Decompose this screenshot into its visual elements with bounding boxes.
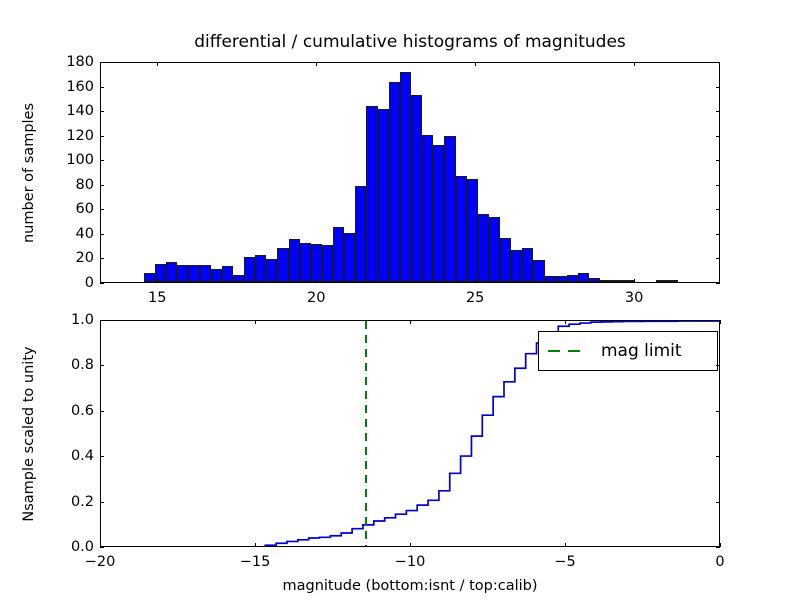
- cumulative-x-tick: [720, 543, 721, 547]
- histogram-x-tick: [316, 62, 317, 66]
- histogram-bar: [545, 276, 556, 282]
- histogram-y-tick: [716, 111, 720, 112]
- histogram-bar: [344, 233, 355, 282]
- histogram-x-tick: [316, 279, 317, 283]
- cumulative-y-ticklabel: 0.2: [50, 494, 94, 509]
- histogram-y-ticklabel: 60: [50, 202, 94, 217]
- legend-label-mag-limit: mag limit: [601, 343, 682, 360]
- histogram-y-tick: [716, 160, 720, 161]
- histogram-bar: [355, 186, 366, 282]
- cumulative-y-tick: [716, 502, 720, 503]
- histogram-bar: [177, 265, 188, 282]
- cumulative-y-tick: [716, 411, 720, 412]
- bottom-y-axis-label: Nsample scaled to unity: [22, 346, 37, 521]
- histogram-y-tick: [100, 258, 104, 259]
- histogram-bar: [244, 257, 255, 282]
- histogram-bar: [589, 278, 600, 282]
- histogram-x-tick: [157, 62, 158, 66]
- histogram-y-tick: [100, 160, 104, 161]
- histogram-bar: [333, 227, 344, 282]
- chart-title: differential / cumulative histograms of …: [194, 34, 626, 51]
- histogram-x-ticklabel: 25: [466, 291, 484, 306]
- histogram-bar: [511, 250, 522, 282]
- histogram-x-tick: [634, 279, 635, 283]
- histogram-bar: [489, 217, 500, 282]
- histogram-bar: [311, 244, 322, 282]
- histogram-x-tick: [634, 62, 635, 66]
- histogram-bar: [233, 275, 244, 282]
- cumulative-x-tick: [410, 320, 411, 324]
- cumulative-x-tick: [255, 320, 256, 324]
- histogram-bar: [300, 243, 311, 282]
- histogram-x-ticklabel: 30: [625, 291, 643, 306]
- cumulative-x-ticklabel: −15: [240, 555, 271, 570]
- cumulative-y-tick: [100, 456, 104, 457]
- histogram-bar: [667, 280, 678, 282]
- cumulative-y-tick: [716, 456, 720, 457]
- histogram-y-ticklabel: 0: [50, 276, 94, 291]
- cumulative-y-ticklabel: 0.4: [50, 449, 94, 464]
- histogram-bar: [166, 262, 177, 282]
- histogram-bar: [500, 238, 511, 282]
- histogram-y-ticklabel: 160: [50, 79, 94, 94]
- histogram-bar: [266, 259, 277, 282]
- histogram-bar: [277, 248, 288, 282]
- axes-top-plot-area: [101, 63, 719, 282]
- cumulative-y-ticklabel: 0.8: [50, 358, 94, 373]
- histogram-y-tick: [716, 209, 720, 210]
- cumulative-x-tick: [410, 543, 411, 547]
- cumulative-x-ticklabel: 0: [715, 555, 724, 570]
- cumulative-x-ticklabel: −20: [85, 555, 116, 570]
- histogram-bar: [600, 280, 611, 282]
- histogram-bar: [456, 176, 467, 282]
- histogram-bar: [144, 273, 155, 282]
- cumulative-y-tick: [100, 365, 104, 366]
- histogram-bar: [433, 145, 444, 283]
- histogram-y-tick: [716, 234, 720, 235]
- histogram-bar: [578, 273, 589, 282]
- cumulative-x-ticklabel: −5: [554, 555, 575, 570]
- histogram-y-tick: [100, 209, 104, 210]
- histogram-bar: [467, 179, 478, 282]
- histogram-y-ticklabel: 80: [50, 178, 94, 193]
- histogram-bar: [567, 275, 578, 282]
- cumulative-x-tick: [255, 543, 256, 547]
- histogram-x-tick: [157, 279, 158, 283]
- histogram-bar: [255, 255, 266, 282]
- histogram-bar: [389, 82, 400, 282]
- histogram-y-tick: [716, 87, 720, 88]
- histogram-y-ticklabel: 140: [50, 104, 94, 119]
- histogram-bar: [378, 109, 389, 282]
- histogram-bar: [422, 135, 433, 282]
- histogram-bar: [200, 265, 211, 282]
- histogram-y-ticklabel: 20: [50, 251, 94, 266]
- histogram-x-ticklabel: 15: [148, 291, 166, 306]
- histogram-bar: [400, 72, 411, 282]
- cumulative-y-ticklabel: 0.0: [50, 540, 94, 555]
- cumulative-x-tick: [565, 320, 566, 324]
- histogram-y-tick: [100, 283, 104, 284]
- cumulative-y-tick: [100, 411, 104, 412]
- cumulative-y-tick: [100, 502, 104, 503]
- histogram-y-ticklabel: 100: [50, 153, 94, 168]
- cumulative-x-tick: [565, 543, 566, 547]
- histogram-y-tick: [100, 111, 104, 112]
- histogram-bar: [411, 95, 422, 282]
- legend[interactable]: mag limit: [538, 331, 718, 371]
- histogram-bar: [556, 276, 567, 282]
- histogram-bar: [522, 248, 533, 282]
- histogram-bar: [222, 266, 233, 282]
- histogram-bar: [322, 245, 333, 282]
- histogram-bar: [656, 280, 667, 282]
- histogram-bar: [289, 239, 300, 282]
- histogram-y-ticklabel: 40: [50, 227, 94, 242]
- histogram-bar: [444, 136, 455, 282]
- histogram-y-tick: [716, 283, 720, 284]
- histogram-y-ticklabel: 180: [50, 55, 94, 70]
- histogram-x-tick: [475, 279, 476, 283]
- top-y-axis-label: number of samples: [22, 102, 37, 242]
- histogram-axes: [100, 62, 720, 283]
- histogram-bar: [478, 214, 489, 282]
- histogram-y-ticklabel: 120: [50, 128, 94, 143]
- histogram-x-tick: [475, 62, 476, 66]
- histogram-y-tick: [100, 62, 104, 63]
- histogram-bar: [611, 280, 622, 282]
- cumulative-y-ticklabel: 1.0: [50, 313, 94, 328]
- histogram-bar: [533, 260, 544, 282]
- cumulative-y-tick: [716, 547, 720, 548]
- histogram-bar: [622, 280, 633, 282]
- histogram-y-tick: [100, 185, 104, 186]
- histogram-y-tick: [716, 136, 720, 137]
- cumulative-y-tick: [716, 365, 720, 366]
- bottom-x-axis-label: magnitude (bottom:isnt / top:calib): [282, 579, 537, 594]
- histogram-y-tick: [100, 234, 104, 235]
- histogram-y-tick: [716, 185, 720, 186]
- cumulative-y-tick: [716, 320, 720, 321]
- histogram-y-tick: [100, 87, 104, 88]
- histogram-bar: [366, 106, 377, 282]
- histogram-y-tick: [100, 136, 104, 137]
- cumulative-x-ticklabel: −10: [395, 555, 426, 570]
- histogram-y-tick: [716, 62, 720, 63]
- histogram-bar: [211, 269, 222, 283]
- histogram-bar: [188, 265, 199, 282]
- mag-limit-vline: [365, 321, 367, 546]
- cumulative-y-tick: [100, 320, 104, 321]
- mag-limit-line-icon: [547, 344, 585, 358]
- histogram-x-ticklabel: 20: [307, 291, 325, 306]
- cumulative-y-ticklabel: 0.6: [50, 404, 94, 419]
- cumulative-y-tick: [100, 547, 104, 548]
- histogram-y-tick: [716, 258, 720, 259]
- matplotlib-figure: differential / cumulative histograms of …: [0, 0, 800, 600]
- cumulative-x-tick: [720, 320, 721, 324]
